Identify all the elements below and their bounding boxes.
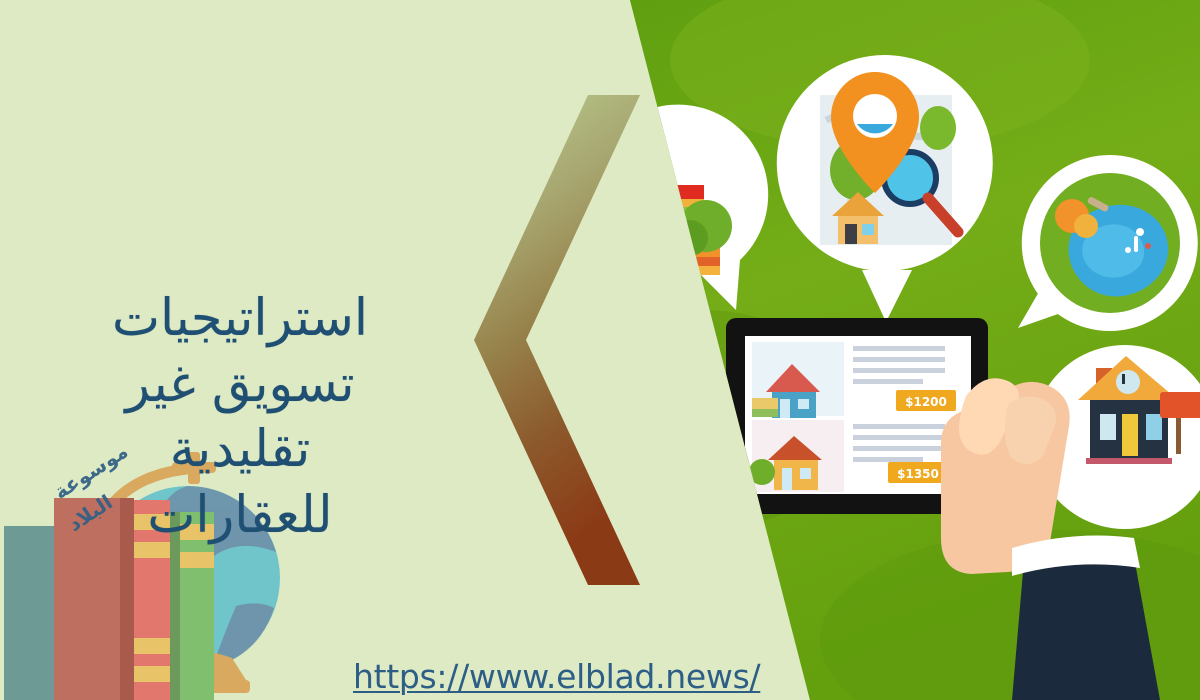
svg-text:$1200: $1200 bbox=[905, 395, 947, 409]
headline-line-3: تقليدية bbox=[40, 423, 440, 477]
tablet-with-listings: $1200 $1350 bbox=[668, 318, 988, 519]
headline-line-1: استراتيجيات bbox=[40, 292, 440, 346]
chevron-arrow-graphic bbox=[470, 95, 640, 585]
page-title: استراتيجيات تسويق غير تقليدية للعقارات bbox=[40, 292, 440, 554]
site-url-link[interactable]: https://www.elblad.news/ bbox=[353, 657, 760, 696]
headline-line-4: للعقارات bbox=[40, 489, 440, 543]
svg-text:$1350: $1350 bbox=[897, 467, 939, 481]
headline-line-2: تسويق غير bbox=[40, 358, 440, 412]
poster-canvas: $1200 $1350 bbox=[0, 0, 1200, 700]
